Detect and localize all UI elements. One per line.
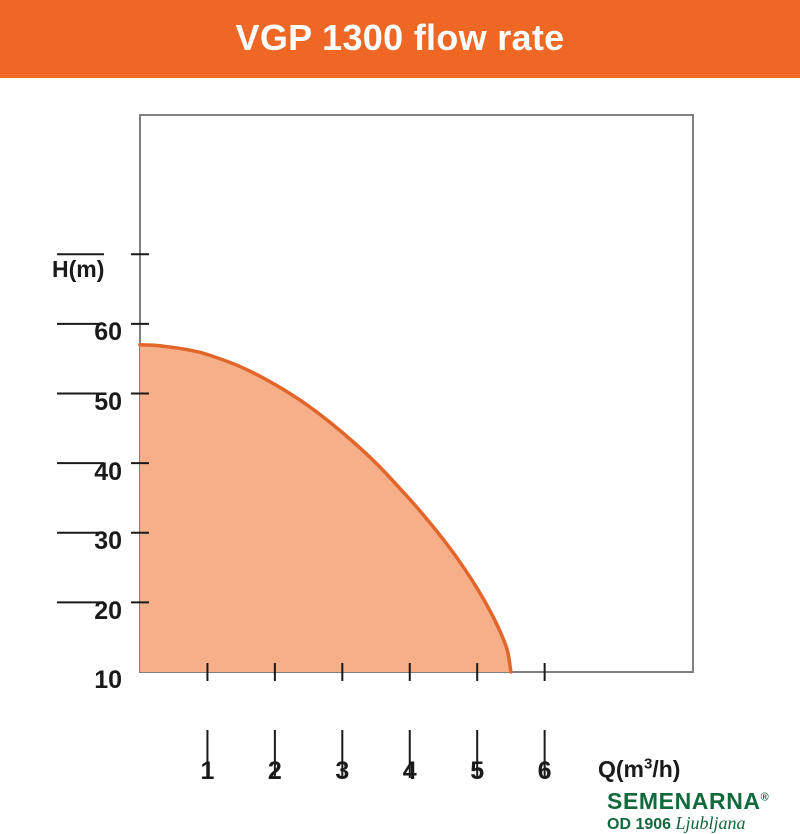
- x-axis-title-tail: /h): [652, 756, 680, 782]
- performance-curve-fill: [140, 345, 511, 672]
- x-tick-label: 4: [390, 759, 430, 784]
- x-tick-label: 3: [322, 759, 362, 784]
- logo-company-name: SEMENARNA®: [607, 789, 769, 813]
- y-tick-label: 20: [72, 599, 122, 624]
- registered-trademark-icon: ®: [761, 791, 770, 803]
- x-axis-title: Q(m3/h): [598, 756, 680, 783]
- logo-established: OD 1906: [607, 816, 671, 833]
- chart-container: H(m) Q(m3/h) 102030405060 123456 SEMENAR…: [0, 78, 800, 800]
- logo-tagline: OD 1906 Ljubljana: [607, 814, 769, 834]
- y-tick-label: 40: [72, 460, 122, 485]
- y-tick-label: 50: [72, 390, 122, 415]
- logo-name-text: SEMENARNA: [607, 788, 761, 814]
- y-tick-label: 60: [72, 320, 122, 345]
- x-tick-label: 5: [457, 759, 497, 784]
- y-tick-label: 10: [72, 668, 122, 693]
- logo-city: Ljubljana: [676, 813, 746, 833]
- y-axis-title: H(m): [52, 256, 104, 283]
- chart-page: VGP 1300 flow rate H(m) Q(m3/h) 10203040…: [0, 0, 800, 800]
- y-tick-label: 30: [72, 529, 122, 554]
- title-banner: VGP 1300 flow rate: [0, 0, 800, 78]
- x-tick-label: 1: [187, 759, 227, 784]
- page-title: VGP 1300 flow rate: [236, 20, 565, 56]
- x-tick-label: 2: [255, 759, 295, 784]
- semenarna-logo: SEMENARNA® OD 1906 Ljubljana: [607, 789, 769, 834]
- x-tick-label: 6: [525, 759, 565, 784]
- x-axis-title-base: Q(m: [598, 756, 644, 782]
